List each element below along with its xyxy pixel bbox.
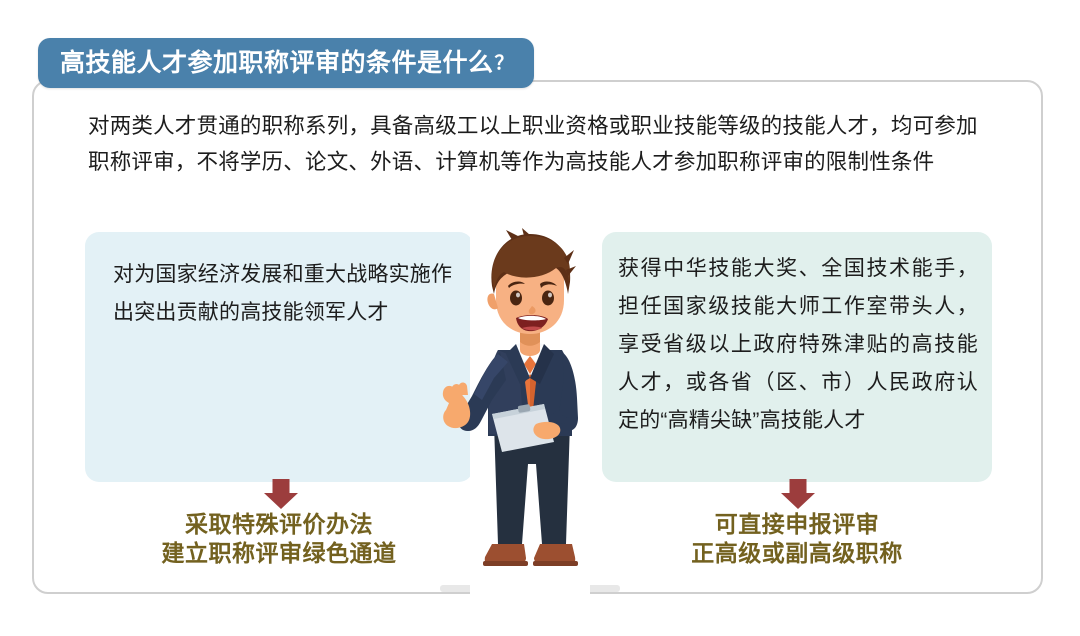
outcome-caption-right-line1: 可直接申报评审 xyxy=(602,510,992,539)
condition-card-right-text: 获得中华技能大奖、全国技术能手，担任国家级技能大师工作室带头人，享受省级以上政府… xyxy=(618,250,978,440)
page-title-banner: 高技能人才参加职称评审的条件是什么 ？ xyxy=(38,38,534,88)
outcome-caption-left-line1: 采取特殊评价办法 xyxy=(85,510,473,539)
outcome-caption-left: 采取特殊评价办法 建立职称评审绿色通道 xyxy=(85,510,473,568)
outcome-caption-right-line2: 正高级或副高级职称 xyxy=(602,539,992,568)
page-title: 高技能人才参加职称评审的条件是什么 xyxy=(60,51,494,76)
down-arrow-icon xyxy=(781,479,815,509)
infographic-root: 高技能人才参加职称评审的条件是什么 ？ 对两类人才贯通的职称系列，具备高级工以上… xyxy=(0,0,1080,636)
outcome-caption-left-line2: 建立职称评审绿色通道 xyxy=(85,539,473,568)
question-mark: ？ xyxy=(494,54,514,73)
down-arrow-icon xyxy=(264,479,298,509)
condition-card-right: 获得中华技能大奖、全国技术能手，担任国家级技能大师工作室带头人，享受省级以上政府… xyxy=(602,232,992,482)
condition-card-left-text: 对为国家经济发展和重大战略实施作出突出贡献的高技能领军人才 xyxy=(113,256,453,332)
condition-card-left: 对为国家经济发展和重大战略实施作出突出贡献的高技能领军人才 xyxy=(85,232,473,482)
lead-paragraph: 对两类人才贯通的职称系列，具备高级工以上职业资格或职业技能等级的技能人才，均可参… xyxy=(88,108,994,180)
outcome-caption-right: 可直接申报评审 正高级或副高级职称 xyxy=(602,510,992,568)
